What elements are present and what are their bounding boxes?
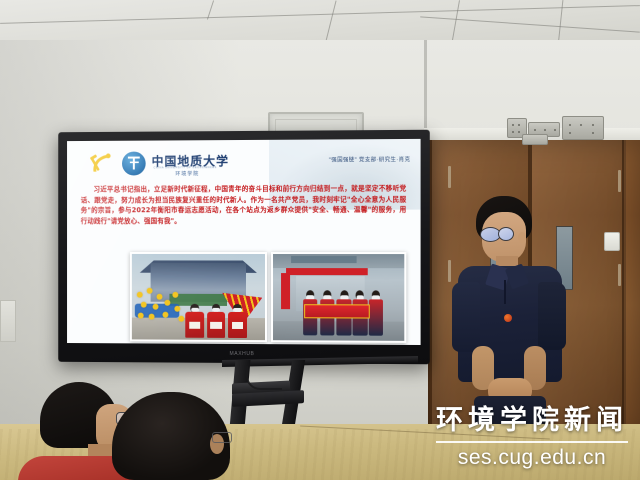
presenter-ear <box>518 232 526 243</box>
slide-paragraph: 习近平总书记指出，立足新时代新征程，中国青年的奋斗目标和前行方向归结到一点，就是… <box>81 184 407 224</box>
volunteer-figure <box>228 304 248 338</box>
slide-header: 中国地质大学 CHINA UNIVERSITY OF GEOSCIENCES 环… <box>67 139 421 183</box>
red-banner <box>304 305 369 318</box>
slide-content: 中国地质大学 CHINA UNIVERSITY OF GEOSCIENCES 环… <box>67 139 421 345</box>
photo-scene: 中国地质大学 CHINA UNIVERSITY OF GEOSCIENCES 环… <box>0 0 640 480</box>
cug-logo <box>122 152 146 176</box>
shirt-sleeve <box>452 282 480 352</box>
party-badge-icon <box>504 314 512 322</box>
hammer-sickle-icon <box>89 152 115 176</box>
slide-photo-right <box>271 252 406 343</box>
school-name: 环境学院 <box>175 170 199 177</box>
display-brand-label: MAXHUB <box>230 351 255 357</box>
watermark-title: 环境学院新闻 <box>436 398 628 439</box>
slide-body-text: 习近平总书记指出，立足新时代新征程，中国青年的奋斗目标和前行方向归结到一点，就是… <box>81 183 407 226</box>
door-closer-plate <box>522 134 548 145</box>
university-name-en: CHINA UNIVERSITY OF GEOSCIENCES <box>154 166 217 169</box>
slide-header-label: "强国强链" 党支部·研究生·肖克 <box>329 155 410 163</box>
volunteer-figure <box>367 290 384 335</box>
door-closer-plate <box>562 116 604 140</box>
eyeglasses-icon <box>212 432 232 443</box>
watermark-divider <box>436 441 628 443</box>
watermark: 环境学院新闻 ses.cug.edu.cn <box>436 398 628 470</box>
slide-photo-left <box>130 252 267 342</box>
watermark-url: ses.cug.edu.cn <box>436 446 628 470</box>
presentation-display[interactable]: 中国地质大学 CHINA UNIVERSITY OF GEOSCIENCES 环… <box>58 130 430 365</box>
shirt-placket <box>504 280 506 304</box>
audience-front-right <box>112 392 242 480</box>
shirt-sleeve <box>538 282 566 350</box>
volunteer-figure <box>185 304 205 338</box>
wall-fixture <box>0 300 16 342</box>
eyeglasses-icon <box>498 227 514 241</box>
light-switch[interactable] <box>604 232 620 251</box>
volunteer-figure <box>206 304 226 338</box>
display-screen: 中国地质大学 CHINA UNIVERSITY OF GEOSCIENCES 环… <box>67 139 421 345</box>
cable <box>246 366 282 390</box>
